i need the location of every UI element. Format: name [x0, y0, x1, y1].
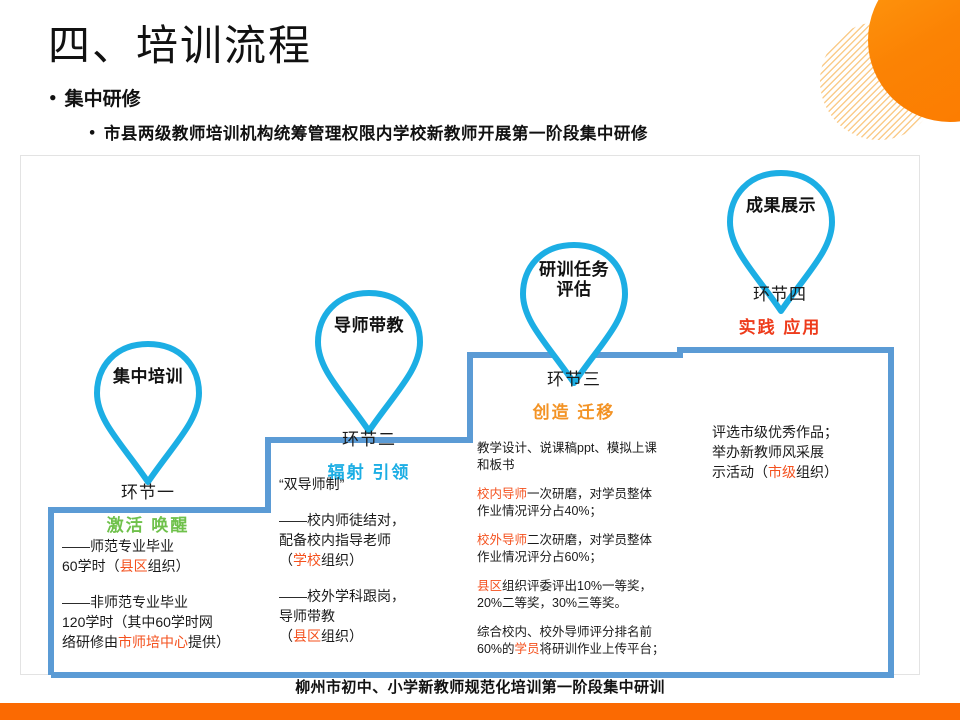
slide-canvas: 四、培训流程 •集中研修 •市县两级教师培训机构统筹管理权限内学校新教师开展第一…	[0, 0, 960, 720]
detail-paragraph: 县区组织评委评出10%一等奖，20%二等奖，30%三等奖。	[477, 578, 687, 612]
page-title: 四、培训流程	[48, 12, 312, 73]
stage-3-head: 环节三 创造 迁移	[494, 365, 654, 423]
bullet-dot-icon: •	[88, 126, 97, 141]
detail-text: 组织）	[321, 552, 363, 568]
detail-text: 一次研磨，对学员整体	[527, 487, 652, 501]
detail-text: 教学设计、说课稿ppt、模拟上课	[477, 441, 657, 455]
bullet-level-2-label: 市县两级教师培训机构统筹管理权限内学校新教师开展第一阶段集中研修	[104, 124, 648, 143]
stage-1-head: 环节一 激活 唤醒	[68, 478, 228, 536]
detail-text: 组织）	[148, 558, 190, 574]
stage-4-step-name: 环节四	[700, 280, 860, 305]
bottom-caption: 柳州市初中、小学新教师规范化培训第一阶段集中研训	[0, 676, 960, 697]
highlighted-term: 县区	[477, 579, 502, 593]
stage-4-head: 环节四 实践 应用	[700, 280, 860, 338]
detail-text: 示活动（	[712, 464, 768, 480]
striped-circle-icon	[820, 22, 938, 140]
bottom-accent-bar	[0, 703, 960, 720]
detail-paragraph: “双导师制”	[279, 474, 484, 494]
detail-text: 组织）	[796, 464, 838, 480]
detail-text: （	[279, 552, 293, 568]
bullet-dot-icon: •	[48, 89, 58, 107]
stage-2-details: “双导师制”——校内师徒结对，配备校内指导老师（学校组织）——校外学科跟岗，导师…	[279, 474, 484, 662]
detail-text: ——非师范专业毕业	[62, 594, 188, 610]
highlighted-term: 县区	[120, 558, 148, 574]
detail-paragraph: 教学设计、说课稿ppt、模拟上课和板书	[477, 440, 687, 474]
detail-text: 将研训作业上传平台；	[540, 642, 665, 656]
detail-paragraph: 校内导师一次研磨，对学员整体作业情况评分占40%；	[477, 486, 687, 520]
detail-text: 组织）	[321, 628, 363, 644]
pin-stage-3-label: 研训任务评估	[515, 260, 633, 300]
detail-text: 络研修由	[62, 634, 118, 650]
stage-4-details: 评选市级优秀作品；举办新教师风采展示活动（市级组织）	[712, 422, 912, 498]
highlighted-term: 校内导师	[477, 487, 527, 501]
orange-circle-icon	[868, 0, 960, 122]
detail-text: 组织评委评出10%一等奖，	[502, 579, 652, 593]
stage-3-details: 教学设计、说课稿ppt、模拟上课和板书校内导师一次研磨，对学员整体作业情况评分占…	[477, 440, 687, 658]
stage-1-details: ——师范专业毕业60学时（县区组织）——非师范专业毕业120学时（其中60学时网…	[62, 536, 277, 668]
pin-stage-2-label: 导师带教	[310, 316, 428, 336]
highlighted-term: 校外导师	[477, 533, 527, 547]
map-pin-icon	[89, 339, 207, 487]
bullet-level-1-label: 集中研修	[65, 88, 141, 110]
detail-text: ——师范专业毕业	[62, 538, 174, 554]
map-pin-icon	[310, 288, 428, 436]
bullet-level-2: •市县两级教师培训机构统筹管理权限内学校新教师开展第一阶段集中研修	[88, 120, 648, 144]
detail-text: 作业情况评分占60%；	[477, 550, 602, 564]
stage-1-step-name: 环节一	[68, 478, 228, 503]
stage-2-step-name: 环节二	[289, 425, 449, 450]
detail-text: 20%二等奖，30%三等奖。	[477, 596, 627, 610]
pin-stage-1-label: 集中培训	[89, 367, 207, 387]
decorative-corner-graphic	[800, 0, 960, 150]
highlighted-term: 市级	[768, 464, 796, 480]
detail-paragraph: 校外导师二次研磨，对学员整体作业情况评分占60%；	[477, 532, 687, 566]
detail-paragraph: ——非师范专业毕业120学时（其中60学时网络研修由市师培中心提供）	[62, 592, 277, 652]
detail-text: 导师带教	[279, 608, 335, 624]
detail-paragraph: ——校内师徒结对，配备校内指导老师（学校组织）	[279, 510, 484, 570]
pin-stage-4-label: 成果展示	[722, 196, 840, 216]
detail-text: 配备校内指导老师	[279, 532, 391, 548]
detail-paragraph: ——校外学科跟岗，导师带教（县区组织）	[279, 586, 484, 646]
highlighted-term: 市师培中心	[118, 634, 188, 650]
highlighted-term: 县区	[293, 628, 321, 644]
detail-text: 举办新教师风采展	[712, 444, 824, 460]
stage-4-step-sub: 实践 应用	[700, 313, 860, 338]
detail-text: 评选市级优秀作品；	[712, 424, 838, 440]
detail-text: 综合校内、校外导师评分排名前	[477, 625, 652, 639]
detail-text: “双导师制”	[279, 476, 344, 492]
detail-text: ——校内师徒结对，	[279, 512, 405, 528]
detail-text: ——校外学科跟岗，	[279, 588, 405, 604]
bullet-level-1: •集中研修	[48, 84, 141, 111]
detail-paragraph: 评选市级优秀作品；举办新教师风采展示活动（市级组织）	[712, 422, 912, 482]
pin-stage-2: 导师带教	[310, 288, 428, 436]
stage-1-step-sub: 激活 唤醒	[68, 511, 228, 536]
detail-text: 提供）	[188, 634, 230, 650]
detail-text: 60学时（	[62, 558, 120, 574]
highlighted-term: 学员	[515, 642, 540, 656]
highlighted-term: 学校	[293, 552, 321, 568]
stage-3-step-sub: 创造 迁移	[494, 398, 654, 423]
detail-text: 120学时（其中60学时网	[62, 614, 213, 630]
detail-text: 和板书	[477, 458, 515, 472]
pin-stage-1: 集中培训	[89, 339, 207, 487]
stage-3-step-name: 环节三	[494, 365, 654, 390]
detail-paragraph: ——师范专业毕业60学时（县区组织）	[62, 536, 277, 576]
detail-text: 60%的	[477, 642, 515, 656]
detail-text: 作业情况评分占40%；	[477, 504, 602, 518]
detail-text: 二次研磨，对学员整体	[527, 533, 652, 547]
detail-paragraph: 综合校内、校外导师评分排名前60%的学员将研训作业上传平台；	[477, 624, 687, 658]
detail-text: （	[279, 628, 293, 644]
